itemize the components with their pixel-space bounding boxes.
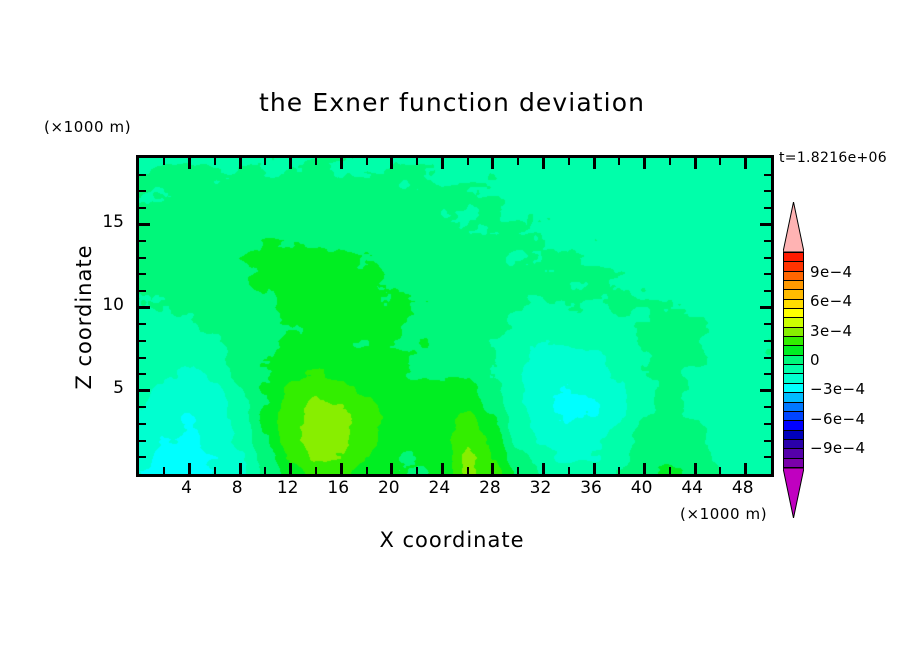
colorbar-tick-label: −3e−4 <box>810 380 865 398</box>
colorbar-tick-label: 6e−4 <box>810 292 852 310</box>
colorbar-tick-label: 9e−4 <box>810 263 852 281</box>
colorbar-tick-labels: 9e−46e−43e−40−3e−4−6e−4−9e−4 <box>0 0 904 654</box>
colorbar-tick-label: 3e−4 <box>810 322 852 340</box>
colorbar-tick-label: −6e−4 <box>810 410 865 428</box>
colorbar-tick-label: 0 <box>810 351 820 369</box>
figure-canvas: the Exner function deviation (×1000 m) t… <box>0 0 904 654</box>
colorbar-tick-label: −9e−4 <box>810 439 865 457</box>
